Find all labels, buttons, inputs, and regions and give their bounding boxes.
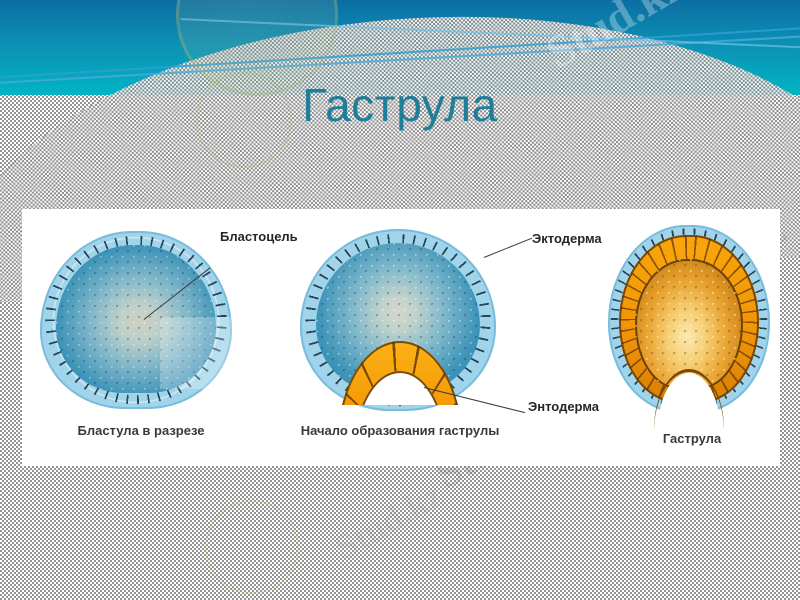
caption-blastula: Бластула в разрезе — [36, 423, 246, 438]
slide-root: Stud.kz Stud.kz Stud.kz Stud.kz Stud.kz … — [0, 0, 800, 600]
label-ectoderm: Эктодерма — [532, 231, 602, 246]
caption-gastrula: Гаструла — [612, 431, 772, 446]
label-endoderm: Энтодерма — [528, 399, 599, 414]
slide-bottom-area — [0, 466, 800, 600]
figure-panel: Бластоцель Бластула в разрезе Эктодерма … — [22, 209, 780, 466]
caption-early-gastrula: Начало образования гаструлы — [250, 423, 550, 438]
label-blastocoel: Бластоцель — [220, 229, 298, 244]
diagram-early-gastrula — [290, 225, 510, 425]
figure-inner: Бластоцель Бластула в разрезе Эктодерма … — [22, 209, 780, 466]
page-title: Гаструла — [0, 82, 800, 128]
blastula-highlight-overlay — [160, 317, 234, 389]
diagram-blastula — [32, 225, 242, 425]
early-gastrula-endoderm-region — [338, 341, 462, 405]
diagram-gastrula — [602, 221, 777, 427]
